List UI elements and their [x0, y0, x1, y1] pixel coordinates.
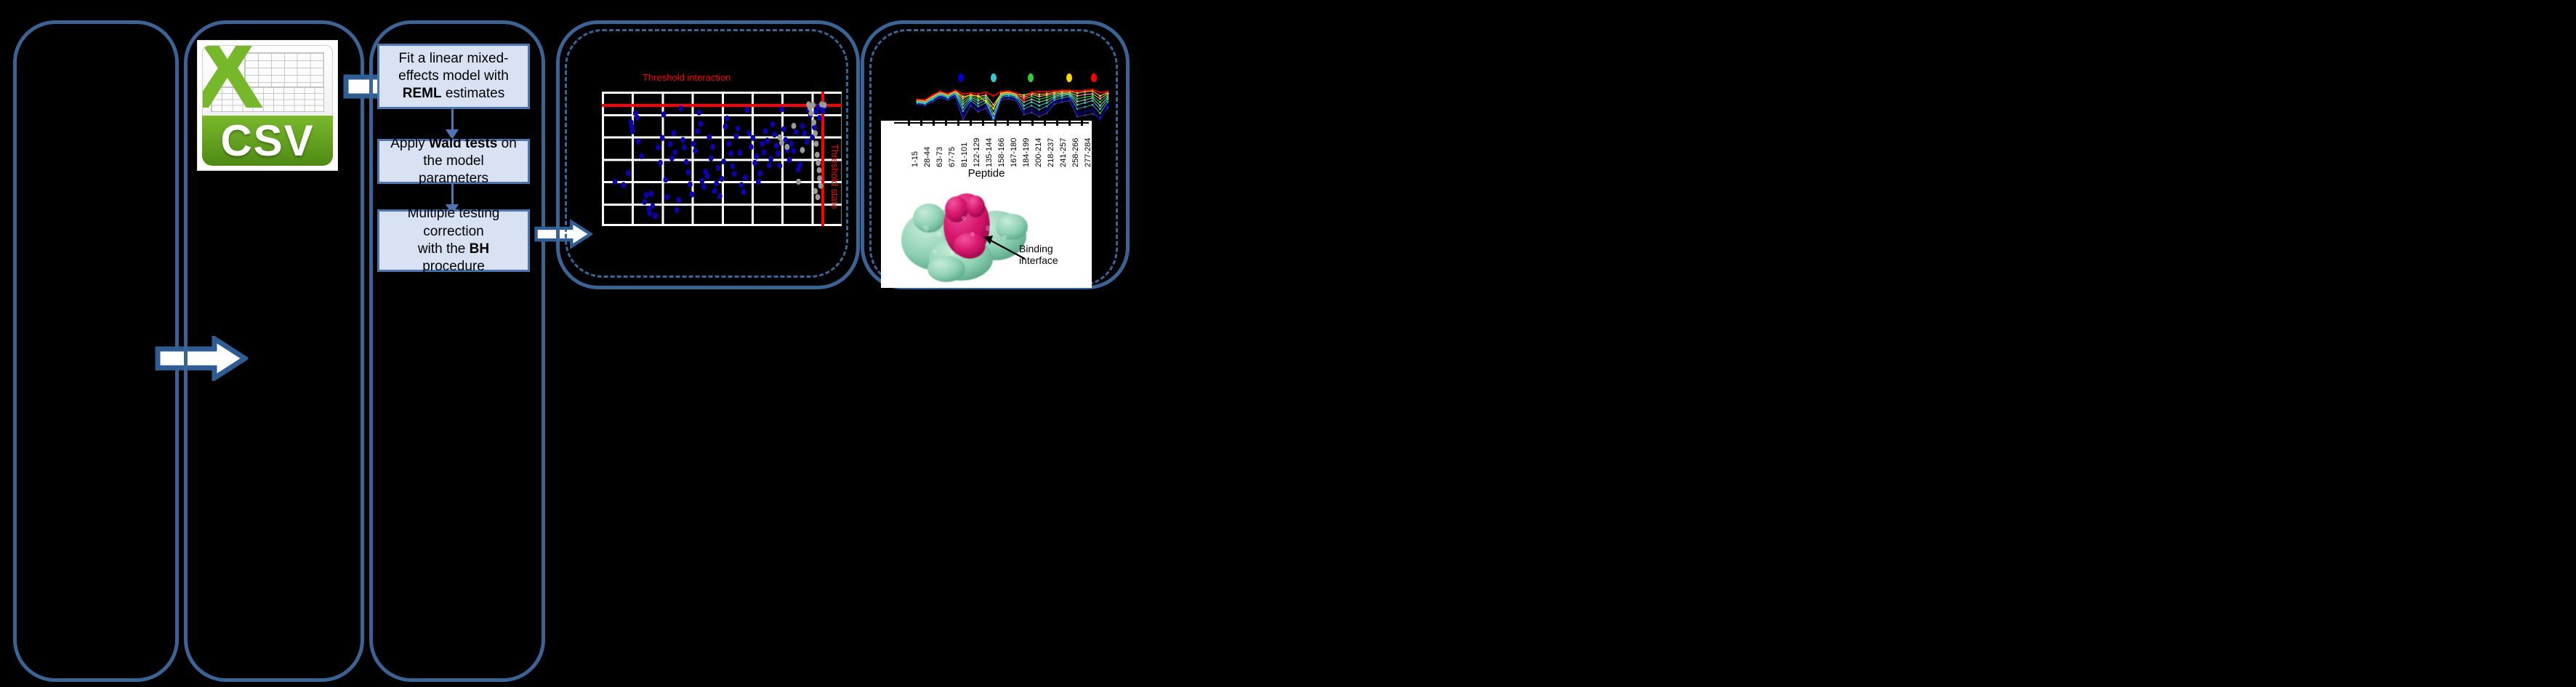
peptide-tick-mark	[933, 121, 935, 126]
step-box-reml: Fit a linear mixed-effects model with RE…	[377, 44, 530, 109]
peptide-tick-mark	[1068, 121, 1071, 126]
threshold-interaction-label: Threshold interaction	[643, 72, 730, 83]
excel-x-glyph: X	[206, 49, 250, 91]
peptide-tick-label: 184-199	[1022, 138, 1031, 167]
threshold-state-label: Threshold state	[829, 144, 840, 209]
peptide-tick-mark	[970, 121, 972, 126]
scatter-points	[602, 92, 842, 226]
peptide-tick-mark	[1007, 121, 1009, 126]
peptide-tick-label: 28-44	[923, 147, 932, 167]
peptide-line-chart	[901, 86, 1112, 122]
csv-footer-label: CSV	[220, 116, 314, 166]
peptide-tick-mark	[982, 121, 984, 126]
peptide-tick-label: 63-73	[935, 147, 944, 167]
csv-footer-band: CSV	[202, 116, 333, 166]
peptide-tick-label: 67-75	[948, 147, 957, 167]
binding-label-line2: interface	[1019, 254, 1058, 266]
panel-model	[369, 20, 545, 682]
step-box-bh: Multiple testing correctionwith the BH p…	[377, 209, 530, 272]
csv-file-icon: X CSV	[198, 41, 337, 170]
binding-label-line1: Binding	[1019, 243, 1058, 254]
step-bh-text: Multiple testing correctionwith the BH p…	[390, 205, 518, 276]
legend-dot-red	[1091, 73, 1097, 82]
step-box-wald: Apply Wald tests on the model parameters	[377, 139, 530, 184]
peptide-tick-label: 218-237	[1047, 138, 1055, 167]
peptide-tick-mark	[1031, 121, 1034, 126]
peptide-tick-mark	[920, 121, 922, 126]
peptide-tick-mark	[1056, 121, 1058, 126]
peptide-tick-label: 167-180	[1010, 138, 1018, 167]
step-reml-text: Fit a linear mixed-effects model with RE…	[390, 50, 518, 103]
peptide-tick-label: 1-15	[911, 151, 919, 167]
peptide-tick-label: 241-257	[1059, 138, 1068, 167]
peptide-tick-mark	[994, 121, 997, 126]
peptide-tick-label: 135-144	[985, 138, 994, 167]
legend-dot-cyan	[991, 73, 997, 82]
peptide-tick-label: 81-101	[960, 142, 969, 167]
csv-spreadsheet-graphic: X	[202, 45, 333, 116]
scatter-plot	[602, 92, 842, 226]
legend-dot-yellow	[1066, 73, 1072, 82]
peptide-tick-label: 158-166	[997, 138, 1006, 167]
peptide-axis-title: Peptide	[881, 167, 1092, 180]
legend-dot-green	[1028, 73, 1034, 82]
peptide-tick-label: 258-266	[1071, 138, 1080, 167]
peptide-tick-label: 122-129	[973, 138, 981, 167]
peptide-tick-mark	[957, 121, 959, 126]
peptide-tick-mark	[1019, 121, 1021, 126]
legend-dot-blue	[958, 73, 964, 82]
peptide-tick-mark	[908, 121, 910, 126]
protein-structure-image	[894, 183, 1039, 285]
peptide-tick-label: 200-214	[1034, 138, 1043, 167]
binding-interface-callout: Binding interface	[1019, 243, 1058, 266]
peptide-tick-labels: 1-1528-4463-7367-7581-101122-129135-1441…	[881, 121, 1092, 172]
structure-card: 1-1528-4463-7367-7581-101122-129135-1441…	[881, 121, 1092, 288]
peptide-tick-mark	[1044, 121, 1046, 126]
peptide-tick-label: 277-284	[1084, 138, 1092, 167]
step-wald-text: Apply Wald tests on the model parameters	[390, 135, 518, 188]
peptide-tick-mark	[1081, 121, 1083, 126]
peptide-tick-mark	[945, 121, 947, 126]
panel-input	[13, 20, 179, 682]
diagram-canvas: X CSV Fit a linear mixed-effects model w…	[0, 0, 2576, 687]
